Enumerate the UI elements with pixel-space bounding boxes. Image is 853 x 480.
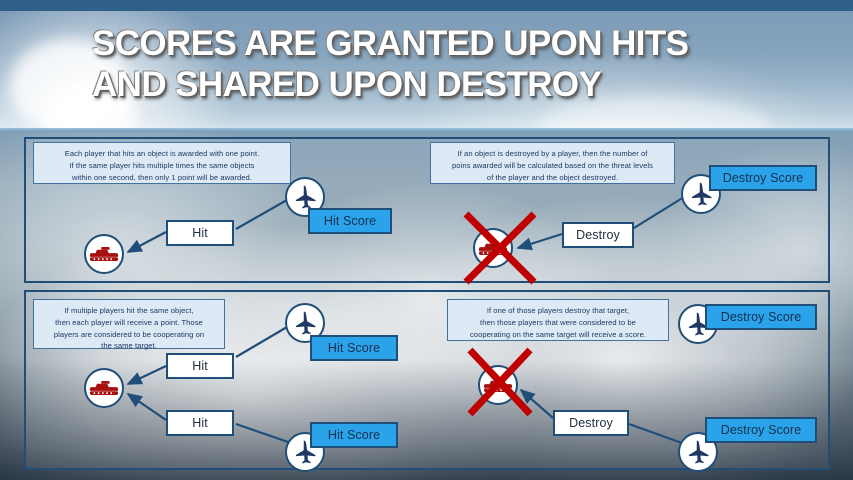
badge-hit-score[interactable]: Hit Score: [310, 422, 398, 448]
top-accent-strip: [0, 0, 853, 11]
badge-destroy-score[interactable]: Destroy Score: [705, 304, 817, 330]
badge-hit-score[interactable]: Hit Score: [308, 208, 392, 234]
badge-destroy-score[interactable]: Destroy Score: [709, 165, 817, 191]
slide-canvas: SCORES ARE GRANTED UPON HITS AND SHARED …: [0, 0, 853, 480]
label-hit[interactable]: Hit: [166, 353, 234, 379]
badge-destroy-score[interactable]: Destroy Score: [705, 417, 817, 443]
destroyed-tank-icon[interactable]: [473, 228, 513, 268]
note-hit-rules: Each player that hits an object is award…: [33, 142, 291, 184]
tank-icon[interactable]: [84, 234, 124, 274]
page-title: SCORES ARE GRANTED UPON HITS AND SHARED …: [92, 24, 792, 105]
label-destroy[interactable]: Destroy: [562, 222, 634, 248]
banner-underline: [0, 128, 853, 132]
note-multi-hit-rules: If multiple players hit the same object,…: [33, 299, 225, 349]
note-shared-destroy-rules: If one of those players destroy that tar…: [447, 299, 669, 341]
label-destroy[interactable]: Destroy: [553, 410, 629, 436]
note-destroy-rules: If an object is destroyed by a player, t…: [430, 142, 675, 184]
destroyed-tank-icon[interactable]: [478, 365, 518, 405]
label-hit[interactable]: Hit: [166, 410, 234, 436]
badge-hit-score[interactable]: Hit Score: [310, 335, 398, 361]
tank-icon[interactable]: [84, 368, 124, 408]
label-hit[interactable]: Hit: [166, 220, 234, 246]
